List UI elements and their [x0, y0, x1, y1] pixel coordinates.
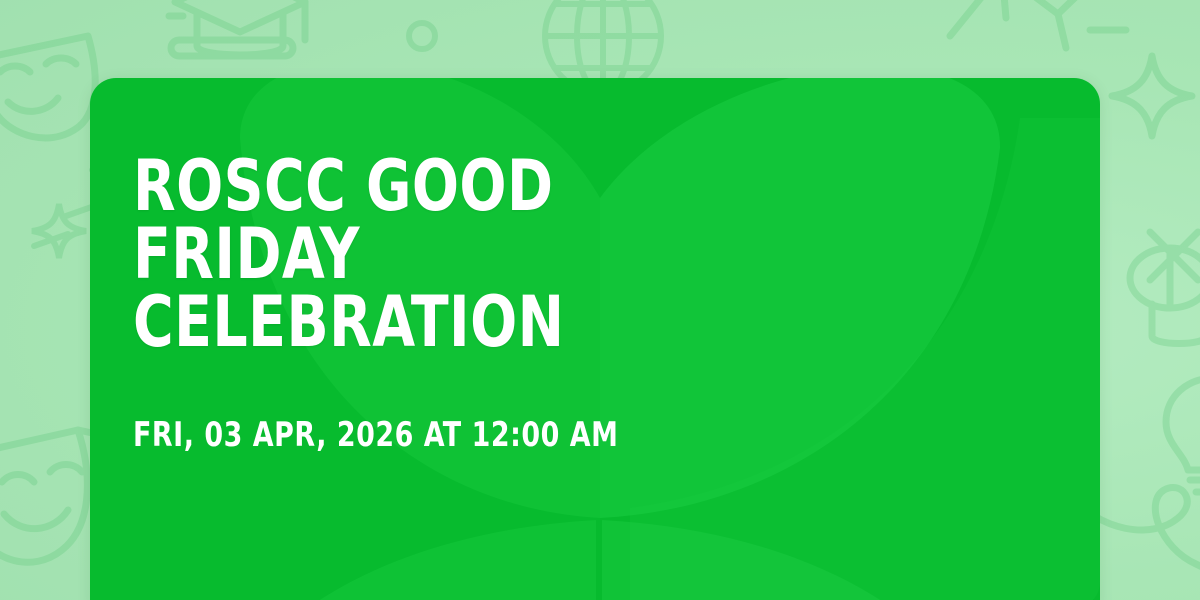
confetti-icon	[26, 224, 76, 254]
card-content: ROSCC GOOD FRIDAY CELEBRATION FRI, 03 AP…	[133, 153, 793, 455]
event-datetime: FRI, 03 APR, 2026 AT 12:00 AM	[133, 415, 714, 455]
event-title: ROSCC GOOD FRIDAY CELEBRATION	[133, 153, 714, 357]
sparkle-icon	[1104, 48, 1200, 144]
streamer-icon	[940, 0, 1130, 64]
confetti-icon	[392, 6, 452, 66]
confetti-icon	[1140, 222, 1200, 292]
lightbulb-icon	[1132, 370, 1200, 510]
event-banner-page: ROSCC GOOD FRIDAY CELEBRATION FRI, 03 AP…	[0, 0, 1200, 600]
party-popper-icon	[1118, 236, 1200, 366]
event-card[interactable]: ROSCC GOOD FRIDAY CELEBRATION FRI, 03 AP…	[90, 78, 1100, 600]
graduation-cap-icon	[155, 0, 325, 74]
sparkle-icon	[24, 196, 94, 266]
